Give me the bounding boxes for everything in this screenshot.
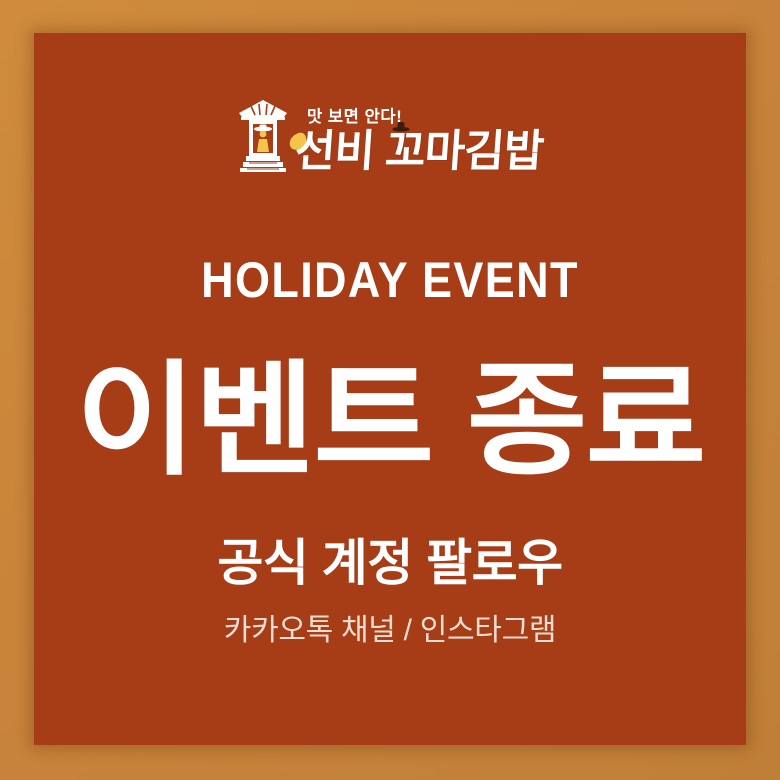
event-subheading: 공식 계정 팔로우 <box>34 538 746 588</box>
event-eyebrow-label: HOLIDAY EVENT <box>70 255 711 305</box>
brand-wordmark-block: 맛 보면 안다! 선비 꼬마김밥 <box>295 109 543 177</box>
stone-lantern-icon <box>237 98 289 174</box>
brand-tagline: 맛 보면 안다! <box>307 109 402 126</box>
social-channels-label: 카카오톡 채널 / 인스타그램 <box>34 616 746 646</box>
promotional-poster: 맛 보면 안다! 선비 꼬마김밥 HOLIDAY EVENT 이벤트 종료 공식… <box>0 0 780 780</box>
poster-inner-panel: 맛 보면 안다! 선비 꼬마김밥 HOLIDAY EVENT 이벤트 종료 공식… <box>34 33 746 745</box>
brand-name: 선비 꼬마김밥 <box>293 130 544 174</box>
event-headline: 이벤트 종료 <box>13 359 768 483</box>
brand-name-row: 선비 꼬마김밥 <box>295 130 543 174</box>
brand-logo-lockup: 맛 보면 안다! 선비 꼬마김밥 <box>34 98 746 176</box>
